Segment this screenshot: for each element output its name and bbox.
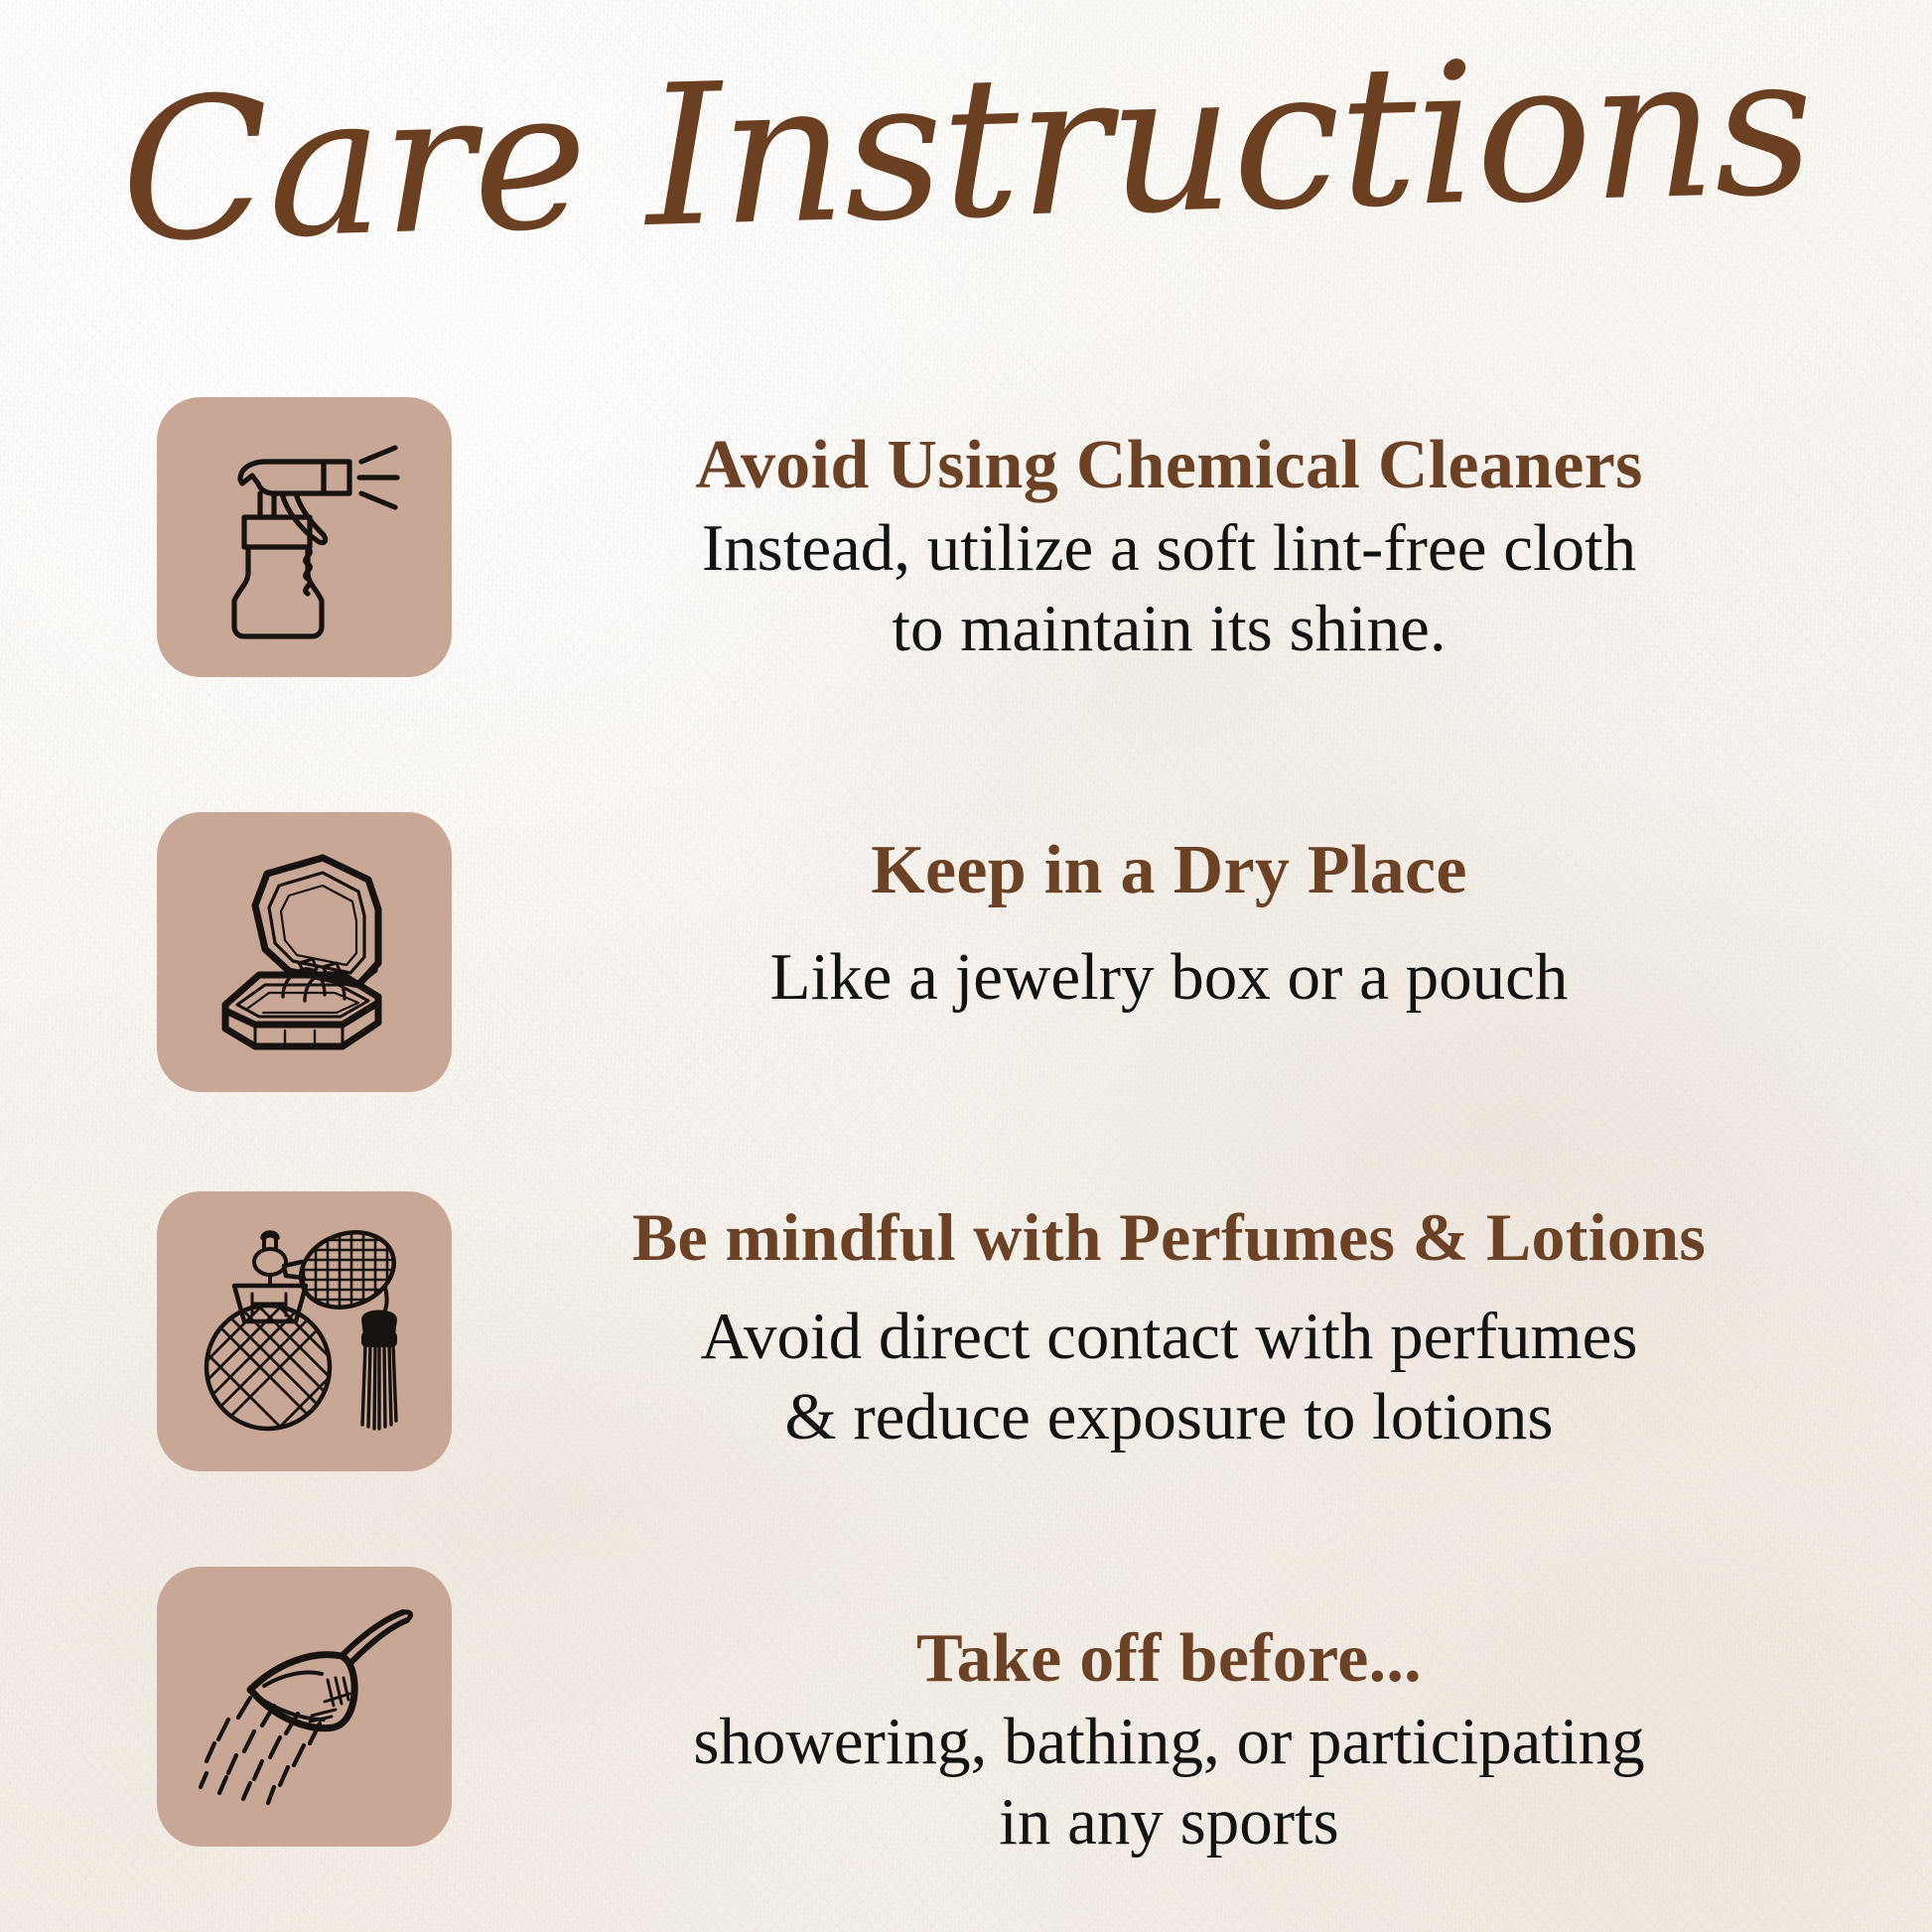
care-section-3: Be mindful with Perfumes & Lotions Avoid… [0, 1191, 1932, 1471]
icon-tile-3 [157, 1191, 452, 1471]
section-heading: Take off before... [466, 1620, 1872, 1698]
section-heading: Be mindful with Perfumes & Lotions [466, 1199, 1872, 1275]
body-line: showering, bathing, or participating [466, 1702, 1872, 1781]
body-line: Like a jewelry box or a pouch [466, 937, 1872, 1017]
body-line: Instead, utilize a soft lint-free cloth [466, 508, 1872, 588]
section-heading: Keep in a Dry Place [466, 832, 1872, 909]
text-column-1: Avoid Using Chemical Cleaners Instead, u… [452, 397, 1932, 668]
section-body: Like a jewelry box or a pouch [466, 937, 1872, 1017]
body-line: in any sports [466, 1782, 1872, 1862]
page-title: Care Instructions [0, 25, 1932, 273]
jewelry-box-icon [194, 846, 416, 1058]
care-section-1: Avoid Using Chemical Cleaners Instead, u… [0, 397, 1932, 677]
section-body: showering, bathing, or participating in … [466, 1702, 1872, 1862]
icon-tile-1 [157, 397, 452, 677]
icon-tile-2 [157, 812, 452, 1092]
care-section-4: Take off before... showering, bathing, o… [0, 1567, 1932, 1862]
body-line: Avoid direct contact with perfumes [466, 1297, 1872, 1376]
section-body: Avoid direct contact with perfumes & red… [466, 1297, 1872, 1456]
care-instructions-card: Care Instructions [0, 0, 1932, 1932]
care-section-2: Keep in a Dry Place Like a jewelry box o… [0, 812, 1932, 1092]
body-line: to maintain its shine. [466, 589, 1872, 668]
spray-bottle-icon [201, 432, 409, 642]
text-column-4: Take off before... showering, bathing, o… [452, 1567, 1932, 1862]
icon-tile-4 [157, 1567, 452, 1847]
perfume-atomizer-icon [191, 1218, 419, 1445]
section-heading: Avoid Using Chemical Cleaners [466, 427, 1872, 504]
text-column-2: Keep in a Dry Place Like a jewelry box o… [452, 812, 1932, 1018]
body-line: & reduce exposure to lotions [466, 1377, 1872, 1456]
shower-head-icon [193, 1598, 417, 1815]
text-column-3: Be mindful with Perfumes & Lotions Avoid… [452, 1191, 1932, 1456]
section-body: Instead, utilize a soft lint-free cloth … [466, 508, 1872, 668]
